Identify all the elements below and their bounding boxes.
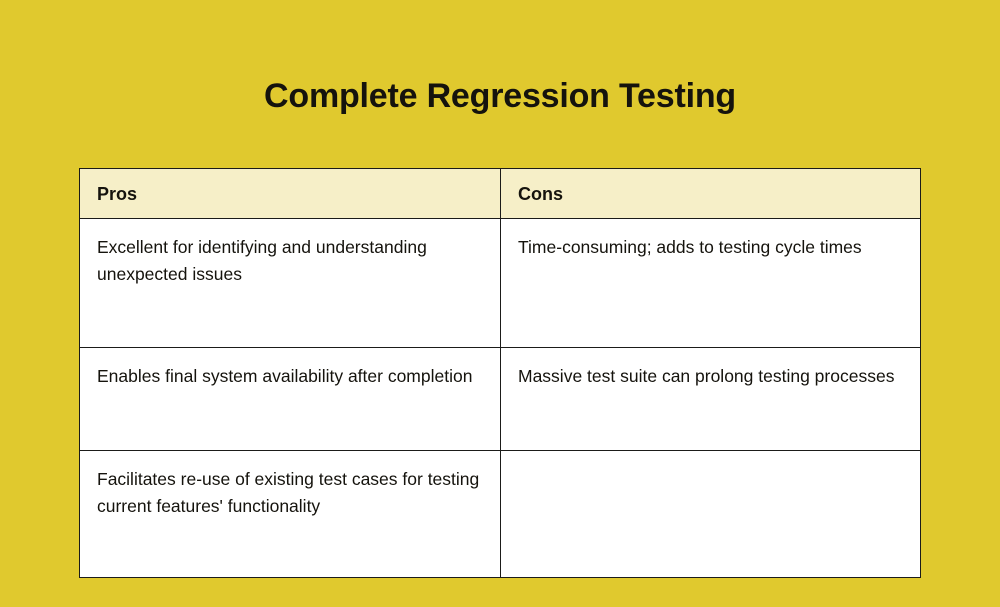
table-row: Facilitates re-use of existing test case… [80,451,921,578]
column-header-cons: Cons [501,169,921,219]
table-body: Excellent for identifying and understand… [80,219,921,578]
cell-pros-3: Facilitates re-use of existing test case… [80,451,501,578]
pros-cons-table-container: Pros Cons Excellent for identifying and … [79,168,920,578]
cell-cons-2: Massive test suite can prolong testing p… [501,348,921,451]
table-header: Pros Cons [80,169,921,219]
cell-pros-2-text: Enables final system availability after … [97,363,483,390]
cell-cons-3-empty [501,451,921,578]
column-header-cons-label: Cons [518,183,903,205]
table-row: Excellent for identifying and understand… [80,219,921,348]
table-header-row: Pros Cons [80,169,921,219]
table-row: Enables final system availability after … [80,348,921,451]
column-header-pros: Pros [80,169,501,219]
cell-cons-2-text: Massive test suite can prolong testing p… [518,363,903,390]
cell-pros-3-text: Facilitates re-use of existing test case… [97,466,483,520]
page-title: Complete Regression Testing [0,74,1000,118]
pros-cons-table: Pros Cons Excellent for identifying and … [79,168,921,578]
cell-cons-1-text: Time-consuming; adds to testing cycle ti… [518,234,903,261]
column-header-pros-label: Pros [97,183,483,205]
cell-cons-3-text [518,466,903,467]
cell-pros-1: Excellent for identifying and understand… [80,219,501,348]
cell-pros-2: Enables final system availability after … [80,348,501,451]
cell-pros-1-text: Excellent for identifying and understand… [97,234,483,288]
cell-cons-1: Time-consuming; adds to testing cycle ti… [501,219,921,348]
page-root: Complete Regression Testing Pros Cons [0,0,1000,607]
